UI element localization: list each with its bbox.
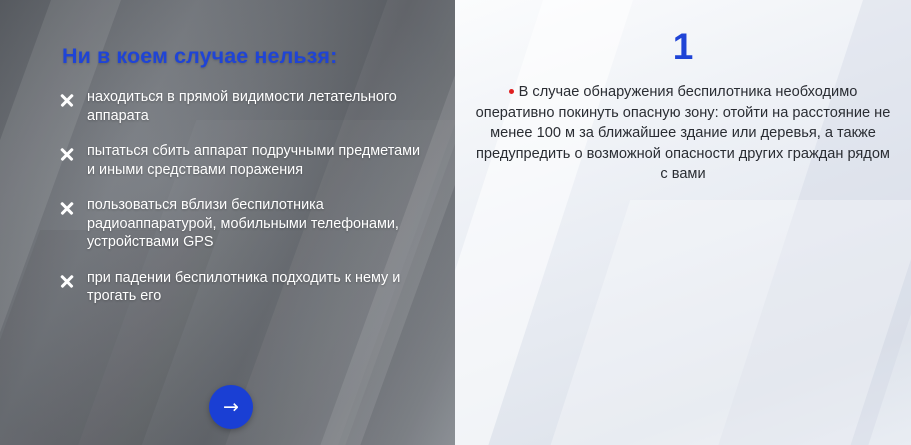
cross-icon [58, 145, 76, 163]
list-item-label: находиться в прямой видимости летательно… [87, 88, 428, 125]
cross-icon [58, 272, 76, 290]
prohibition-list: находиться в прямой видимости летательно… [58, 88, 428, 323]
next-slide-button-left[interactable]: → [209, 385, 253, 429]
decorative-band [520, 200, 911, 445]
step-number: 1 [455, 26, 911, 68]
bullet-dot-icon [509, 89, 514, 94]
list-item: пользоваться вблизи беспилотника радиоап… [58, 196, 428, 252]
cross-icon [58, 199, 76, 217]
left-panel: Ни в коем случае нельзя: находиться в пр… [0, 0, 455, 445]
instruction-text: В случае обнаружения беспилотника необхо… [473, 82, 893, 185]
list-item-label: пользоваться вблизи беспилотника радиоап… [87, 196, 428, 252]
list-item-label: при падении беспилотника подходить к нем… [87, 269, 428, 306]
list-item: находиться в прямой видимости летательно… [58, 88, 428, 125]
list-item: при падении беспилотника подходить к нем… [58, 269, 428, 306]
instruction-text-label: В случае обнаружения беспилотника необхо… [476, 84, 891, 182]
list-item: пытаться сбить аппарат подручными предме… [58, 142, 428, 179]
list-item-label: пытаться сбить аппарат подручными предме… [87, 142, 428, 179]
slide-root: Ни в коем случае нельзя: находиться в пр… [0, 0, 911, 445]
arrow-right-icon: → [223, 398, 239, 417]
right-panel: 1 В случае обнаружения беспилотника необ… [455, 0, 911, 445]
cross-icon [58, 91, 76, 109]
page-title: Ни в коем случае нельзя: [62, 44, 337, 69]
